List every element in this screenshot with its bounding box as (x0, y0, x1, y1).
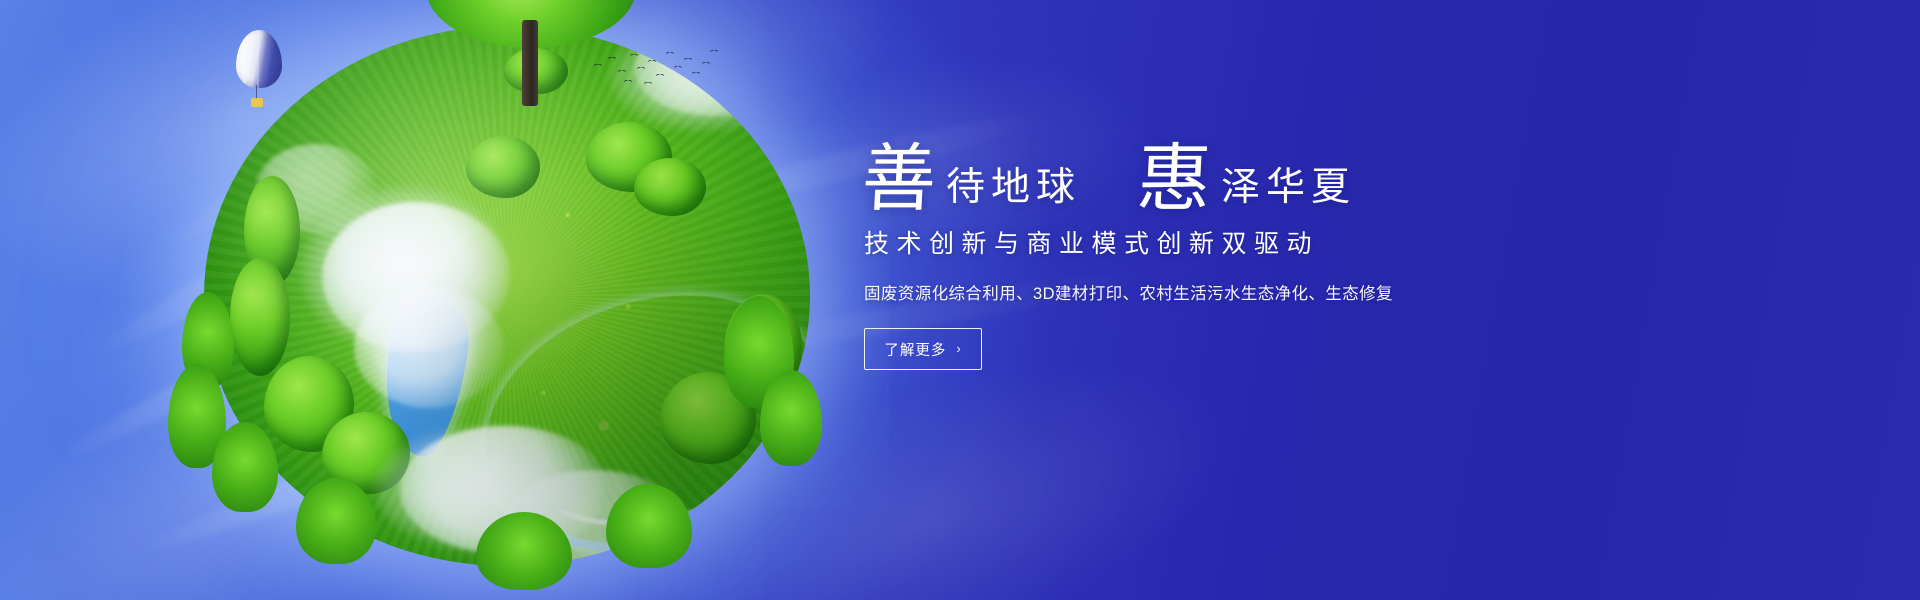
headline-rest-2: 泽华夏 (1221, 168, 1356, 207)
learn-more-button[interactable]: 了解更多 › (864, 328, 982, 370)
lake-shape (375, 291, 475, 460)
learn-more-label: 了解更多 (884, 339, 946, 360)
balloon-envelope (236, 30, 282, 88)
bird-icon (610, 57, 616, 61)
headline-phrase-2: 惠 泽华夏 (1137, 146, 1356, 214)
bird-icon (676, 66, 682, 70)
planet-cloud (256, 144, 376, 234)
hot-air-balloon (236, 30, 282, 116)
bird-icon (632, 54, 638, 58)
bird-icon (658, 74, 664, 78)
headline-phrase-1: 善 待地球 (862, 146, 1081, 214)
bush (634, 158, 706, 216)
bird-flock (592, 48, 722, 90)
description: 固废资源化综合利用、3D建材打印、农村生活污水生态净化、生态修复 (864, 280, 1562, 304)
bird-icon (694, 72, 700, 76)
hero-banner: 善 待地球 惠 泽华夏 技术创新与商业模式创新双驱动 固废资源化综合利用、3D建… (0, 0, 1920, 600)
bird-icon (668, 52, 674, 56)
bird-icon (646, 82, 652, 86)
bush (244, 176, 300, 286)
balloon-cord (256, 85, 257, 99)
bush (586, 122, 672, 192)
chevron-right-icon: › (956, 341, 961, 356)
planet-cloud (354, 288, 504, 408)
headline: 善 待地球 惠 泽华夏 (862, 118, 1562, 214)
headline-rest-1: 待地球 (946, 168, 1081, 207)
bird-icon (650, 60, 656, 64)
mist (300, 186, 510, 354)
bush (466, 136, 540, 198)
bird-icon (626, 80, 632, 84)
bird-icon (639, 67, 645, 71)
bird-icon (596, 64, 602, 68)
bush (230, 258, 290, 376)
balloon-basket (251, 98, 263, 107)
subtitle: 技术创新与商业模式创新双驱动 (864, 224, 1562, 260)
headline-accent-char-2: 惠 (1135, 146, 1213, 214)
tree-trunk (522, 20, 538, 106)
planet-cloud (322, 202, 510, 352)
bird-icon (620, 70, 626, 74)
bird-icon (712, 50, 718, 54)
bird-icon (704, 62, 710, 66)
hero-text-block: 善 待地球 惠 泽华夏 技术创新与商业模式创新双驱动 固废资源化综合利用、3D建… (862, 118, 1562, 370)
headline-accent-char-1: 善 (860, 146, 938, 214)
bush (264, 356, 354, 452)
bird-icon (686, 58, 692, 62)
